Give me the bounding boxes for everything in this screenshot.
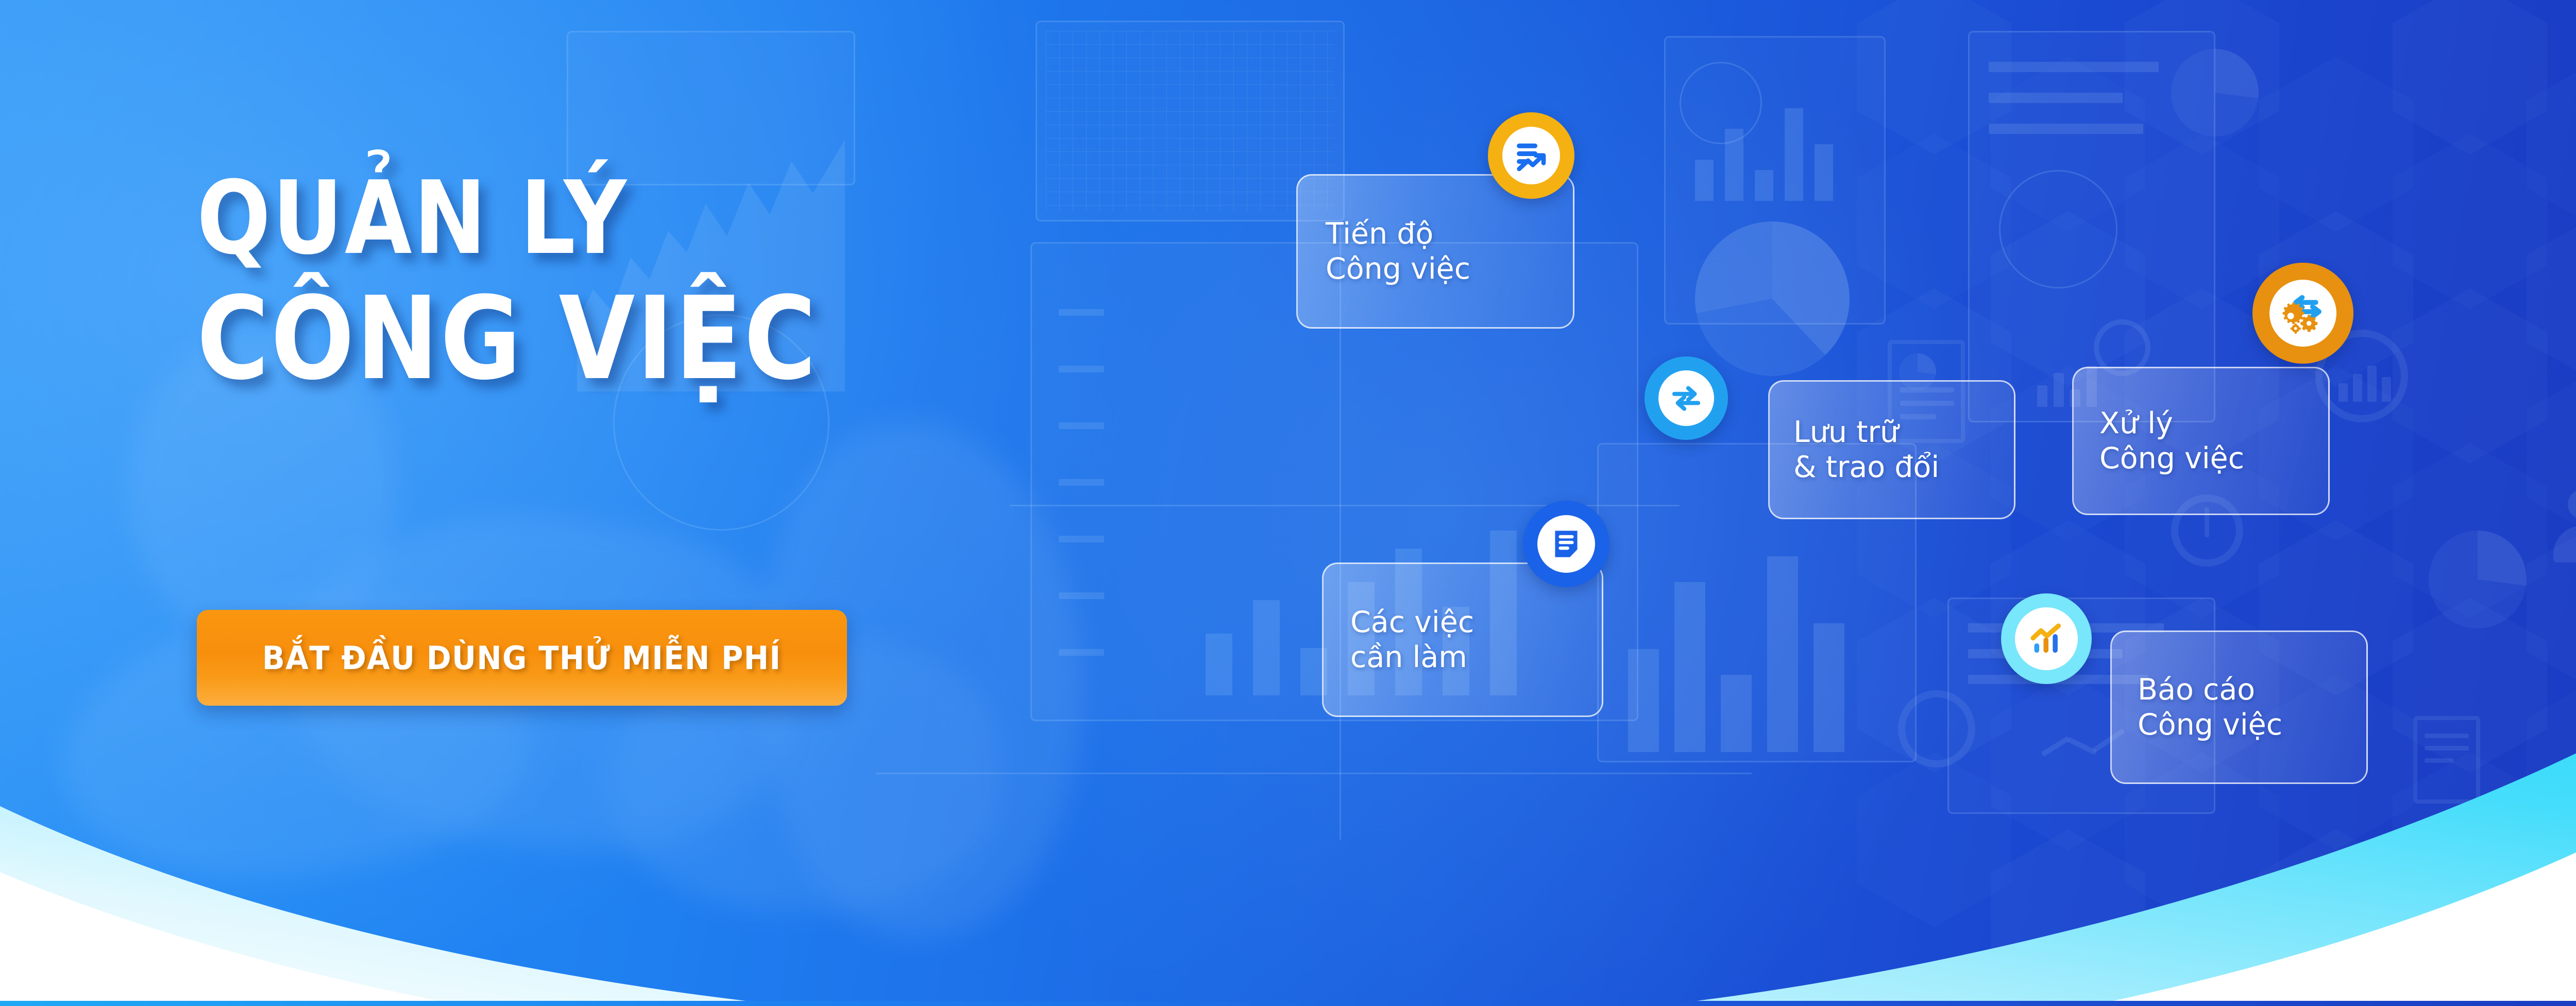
badge-xu-ly-cong-viec[interactable] [2252, 263, 2353, 364]
hex-user-body-icon [2553, 525, 2576, 562]
feature-card-xu-ly-cong-viec[interactable]: Xử lý Công việc [2072, 367, 2330, 515]
hex-doc-icon-2 [2413, 716, 2480, 804]
hex-pie-chart-icon [2171, 49, 2259, 137]
feature-card-label-cac-viec: Các việc cần làm [1350, 605, 1602, 675]
start-free-trial-label: BẮT ĐẦU DÙNG THỬ MIỄN PHÍ [262, 639, 781, 677]
hex-user-icon [2568, 489, 2576, 519]
badge-bao-cao-cong-viec[interactable] [2001, 593, 2092, 684]
bar-chart-trend-icon [2027, 620, 2065, 658]
laptop-hands-photo-overlay [0, 0, 1185, 1006]
feature-card-luu-tru-trao-doi[interactable]: Lưu trữ & trao đổi [1768, 380, 2015, 519]
feature-card-label-tien-do: Tiến độ Công việc [1326, 216, 1573, 287]
hex-gauge-icon [1898, 690, 1975, 768]
feature-card-label-bao-cao: Báo cáo Công việc [2138, 672, 2366, 743]
background-glow-left [0, 0, 1236, 1006]
start-free-trial-button[interactable]: BẮT ĐẦU DÙNG THỬ MIỄN PHÍ [197, 610, 847, 706]
gears-transfer-icon [2280, 291, 2326, 336]
badge-cac-viec-can-lam[interactable] [1523, 501, 1609, 587]
feature-card-label-xu-ly: Xử lý Công việc [2099, 406, 2328, 476]
page-title-line1: QUẢN LÝ [197, 170, 1083, 267]
hero-text-block: QUẢN LÝ CÔNG VIỆC [197, 170, 1227, 394]
hero-banner: QUẢN LÝ CÔNG VIỆC BẮT ĐẦU DÙNG THỬ MIỄN … [0, 0, 2576, 1006]
feature-card-label-luu-tru: Lưu trữ & trao đổi [1793, 415, 2014, 485]
badge-luu-tru-trao-doi[interactable] [1645, 356, 1728, 440]
report-trend-up-icon [1512, 136, 1551, 175]
feature-card-bao-cao-cong-viec[interactable]: Báo cáo Công việc [2110, 630, 2368, 784]
hex-pie-chart-icon-2 [2429, 531, 2527, 628]
badge-tien-do-cong-viec[interactable] [1488, 112, 1574, 199]
exchange-arrows-icon [1669, 381, 1703, 415]
hex-donut-bars-icon [2338, 361, 2395, 402]
note-document-icon [1548, 526, 1584, 562]
bottom-accent-bar [0, 1001, 2576, 1006]
page-title-line2: CÔNG VIỆC [197, 284, 1083, 394]
